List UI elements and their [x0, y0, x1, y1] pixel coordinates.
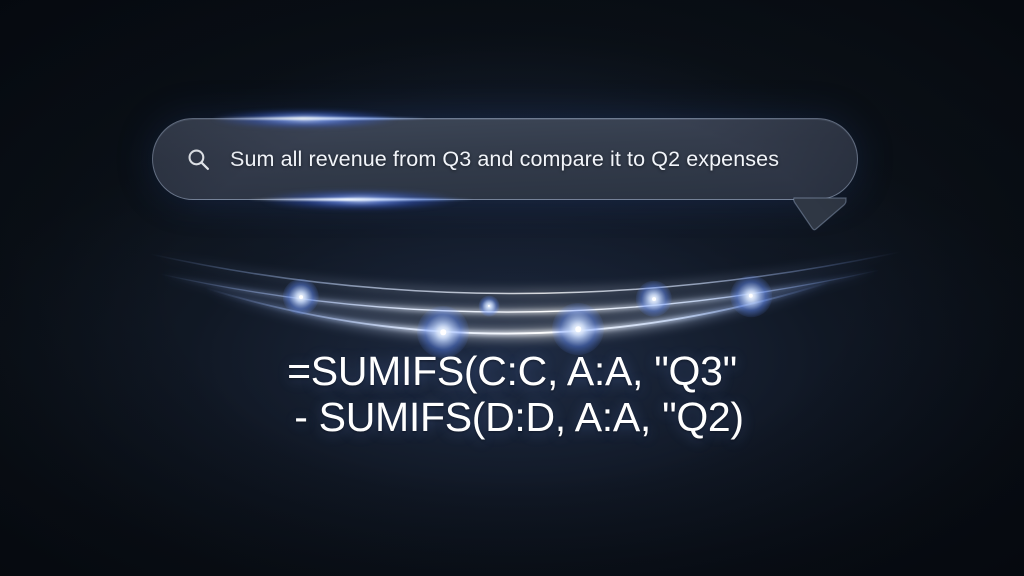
beam-spark-core	[575, 326, 581, 332]
search-bubble-content: Sum all revenue from Q3 and compare it t…	[152, 118, 858, 200]
search-icon[interactable]	[186, 147, 211, 172]
beam-spark-core	[749, 294, 753, 298]
beam-spark-core	[299, 295, 303, 299]
beam-spark-halo	[283, 279, 319, 315]
beam-spark-halo	[479, 296, 500, 317]
generated-formula: =SUMIFS(C:C, A:A, "Q3" - SUMIFS(D:D, A:A…	[0, 348, 1024, 440]
search-bubble[interactable]: Sum all revenue from Q3 and compare it t…	[152, 118, 858, 200]
search-query-text[interactable]: Sum all revenue from Q3 and compare it t…	[230, 147, 779, 172]
beam-spark-core	[440, 329, 446, 335]
beam-spark-core	[652, 297, 656, 301]
beam-spark-core	[488, 305, 490, 307]
vignette-overlay	[0, 0, 1024, 576]
app-canvas: Sum all revenue from Q3 and compare it t…	[0, 0, 1024, 576]
beam-spark-halo	[636, 281, 672, 317]
speech-bubble-tail	[792, 197, 848, 231]
beam-spark-halo	[730, 275, 772, 317]
formula-line-1: =SUMIFS(C:C, A:A, "Q3"	[0, 348, 1024, 394]
formula-line-2: - SUMIFS(D:D, A:A, "Q2)	[0, 394, 1024, 440]
